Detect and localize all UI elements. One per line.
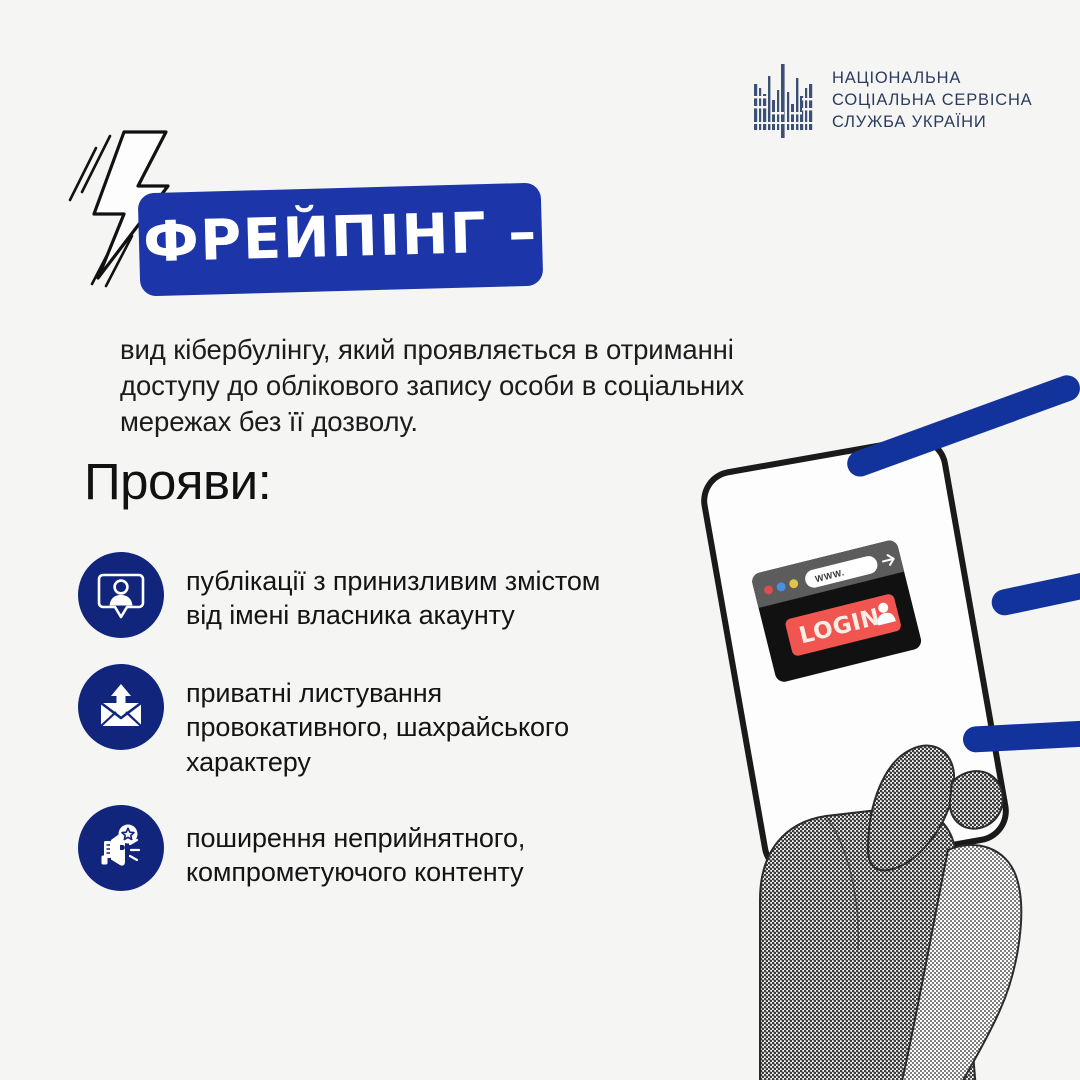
list-item: приватні листування провокативного, шахр… bbox=[78, 664, 718, 779]
definition-line-1: вид кібербулінгу, який проявляється в от… bbox=[120, 332, 880, 368]
list-item-line-2: компрометуючого контенту bbox=[186, 855, 525, 889]
list-item-text: приватні листування провокативного, шахр… bbox=[186, 664, 569, 779]
hand-holding-phone-illustration: WWW. LOGIN bbox=[700, 430, 1080, 1080]
list-item-line-1: приватні листування bbox=[186, 676, 569, 710]
list-item: публікації з принизливим змістом від іме… bbox=[78, 552, 718, 638]
manifestations-list: публікації з принизливим змістом від іме… bbox=[78, 552, 718, 917]
list-item-line-1: поширення неприйнятного, bbox=[186, 821, 525, 855]
list-item-text: публікації з принизливим змістом від іме… bbox=[186, 552, 600, 633]
logo-wordmark: НАЦІОНАЛЬНА СОЦІАЛЬНА СЕРВІСНА СЛУЖБА УК… bbox=[832, 68, 1032, 134]
envelope-send-icon bbox=[78, 664, 164, 750]
definition-text: вид кібербулінгу, який проявляється в от… bbox=[120, 332, 880, 440]
organization-logo: НАЦІОНАЛЬНА СОЦІАЛЬНА СЕРВІСНА СЛУЖБА УК… bbox=[752, 62, 1032, 140]
logo-line-3: СЛУЖБА УКРАЇНИ bbox=[832, 112, 1032, 134]
definition-line-2: доступу до облікового запису особи в соц… bbox=[120, 368, 880, 404]
user-speech-bubble-icon bbox=[78, 552, 164, 638]
list-item-text: поширення неприйнятного, компрометуючого… bbox=[186, 805, 525, 890]
logo-line-1: НАЦІОНАЛЬНА bbox=[832, 68, 1032, 90]
list-item: поширення неприйнятного, компрометуючого… bbox=[78, 805, 718, 891]
list-item-line-3: характеру bbox=[186, 745, 569, 779]
logo-line-2: СОЦІАЛЬНА СЕРВІСНА bbox=[832, 90, 1032, 112]
list-item-line-2: від імені власника акаунту bbox=[186, 598, 600, 632]
section-heading: Прояви: bbox=[84, 456, 271, 507]
barcode-mark-icon bbox=[752, 62, 818, 140]
page-title: ФРЕЙПІНГ – bbox=[142, 200, 538, 276]
poster-root: НАЦІОНАЛЬНА СОЦІАЛЬНА СЕРВІСНА СЛУЖБА УК… bbox=[0, 0, 1080, 1080]
list-item-line-2: провокативного, шахрайського bbox=[186, 710, 569, 744]
title-badge: ФРЕЙПІНГ – bbox=[138, 183, 544, 297]
megaphone-star-icon bbox=[78, 805, 164, 891]
list-item-line-1: публікації з принизливим змістом bbox=[186, 564, 600, 598]
